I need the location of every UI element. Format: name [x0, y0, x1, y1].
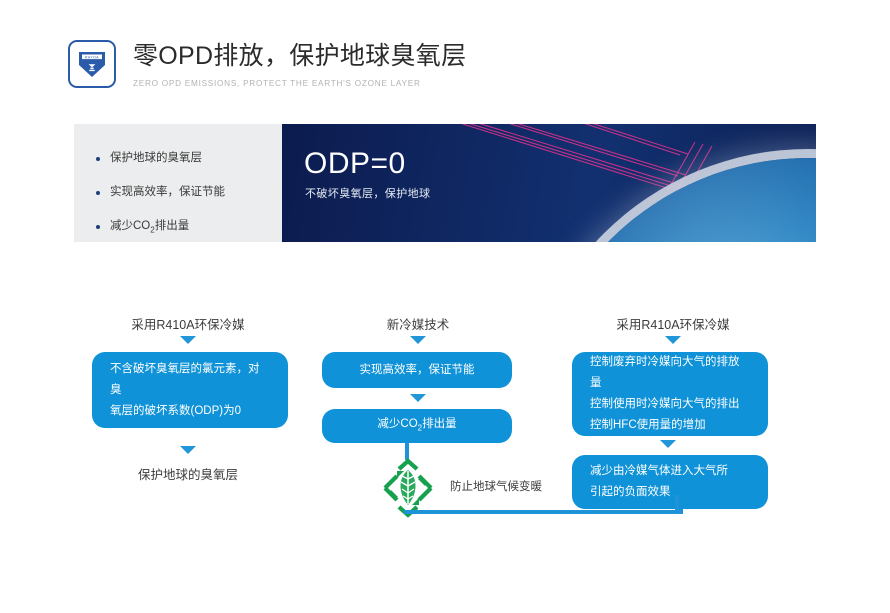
climate-warming-caption: 防止地球气候变暖 — [450, 478, 542, 494]
bullet-dot-icon — [96, 225, 100, 229]
list-item: 保护地球的臭氧层 — [96, 150, 282, 167]
right-detail-box: 控制废弃时冷媒向大气的排放量 控制使用时冷媒向大气的排出 控制HFC使用量的增加 — [572, 352, 768, 436]
connector-right-horizontal — [404, 510, 679, 514]
column-heading-right: 采用R410A环保冷媒 — [568, 314, 778, 333]
list-item: 实现高效率，保证节能 — [96, 184, 282, 201]
benefits-flow-diagram: 采用R410A环保冷媒 新冷媒技术 采用R410A环保冷媒 不含破坏臭氧层的氯元… — [0, 300, 890, 560]
left-result-label: 保护地球的臭氧层 — [88, 464, 288, 483]
arrow-down-icon-left-head — [180, 336, 196, 344]
middle-box-efficiency: 实现高效率，保证节能 — [322, 352, 512, 388]
leaf-glyph — [401, 470, 416, 505]
arrow-down-icon-middle-mid — [410, 394, 426, 402]
column-heading-left: 采用R410A环保冷媒 — [88, 314, 288, 333]
bullet-dot-icon — [96, 191, 100, 195]
logo-wordmark: RAYOA — [85, 55, 99, 59]
page-title: 零OPD排放，保护地球臭氧层 — [133, 41, 466, 71]
right-result-box: 减少由冷媒气体进入大气所 引起的负面效果 — [572, 455, 768, 509]
hero-section: 保护地球的臭氧层 实现高效率，保证节能 减少CO2排出量 — [74, 124, 816, 242]
bullet-dot-icon — [96, 157, 100, 161]
middle-box-co2-part: 减少CO — [377, 418, 417, 430]
middle-box-co2: 减少CO2排出量 — [322, 409, 512, 443]
middle-box-co2-part: 排出量 — [422, 418, 457, 430]
arrow-down-icon-right-head — [665, 336, 681, 344]
banner-subheadline: 不破坏臭氧层，保护地球 — [305, 185, 430, 201]
brand-logo: RAYOA — [68, 40, 116, 88]
list-item: 减少CO2排出量 — [96, 218, 282, 238]
arrow-down-icon-middle-head — [410, 336, 426, 344]
middle-box-co2-label: 减少CO2排出量 — [357, 414, 476, 438]
right-detail-line2: 控制使用时冷媒向大气的排出 — [590, 394, 750, 415]
right-detail-line3: 控制HFC使用量的增加 — [590, 415, 750, 436]
feature-bullet-list: 保护地球的臭氧层 实现高效率，保证节能 减少CO2排出量 — [74, 124, 282, 242]
right-result-line2: 引起的负面效果 — [590, 482, 728, 503]
right-result-line1: 减少由冷媒气体进入大气所 — [590, 461, 728, 482]
left-detail-box: 不含破坏臭氧层的氯元素，对臭 氧层的破坏系数(ODP)为0 — [92, 352, 288, 428]
right-detail-line1: 控制废弃时冷媒向大气的排放量 — [590, 352, 750, 394]
bullet-label: 实现高效率，保证节能 — [110, 184, 225, 201]
page-header: RAYOA 零OPD排放，保护地球臭氧层 ZERO OPD EMISSIONS,… — [68, 40, 466, 88]
shield-badge-icon: RAYOA — [75, 48, 109, 80]
middle-box-efficiency-label: 实现高效率，保证节能 — [340, 360, 495, 381]
left-detail-line2: 氧层的破坏系数(ODP)为0 — [110, 401, 270, 422]
connector-right-stub — [679, 509, 683, 514]
bullet-label-part: 减少CO — [110, 220, 150, 232]
slide-root: RAYOA 零OPD排放，保护地球臭氧层 ZERO OPD EMISSIONS,… — [0, 0, 890, 613]
bullet-label: 保护地球的臭氧层 — [110, 150, 202, 167]
arrow-down-icon-left-result — [180, 446, 196, 454]
header-text-group: 零OPD排放，保护地球臭氧层 ZERO OPD EMISSIONS, PROTE… — [133, 40, 466, 88]
left-detail-line1: 不含破坏臭氧层的氯元素，对臭 — [110, 359, 270, 401]
arrow-down-icon-right-result — [660, 440, 676, 448]
banner-headline: ODP=0 — [304, 147, 406, 181]
column-heading-middle: 新冷媒技术 — [318, 314, 518, 333]
page-subtitle: ZERO OPD EMISSIONS, PROTECT THE EARTH'S … — [133, 79, 466, 88]
hero-banner: ODP=0 不破坏臭氧层，保护地球 — [282, 124, 816, 242]
bullet-label: 减少CO2排出量 — [110, 218, 189, 238]
bullet-label-part: 排出量 — [155, 220, 190, 232]
